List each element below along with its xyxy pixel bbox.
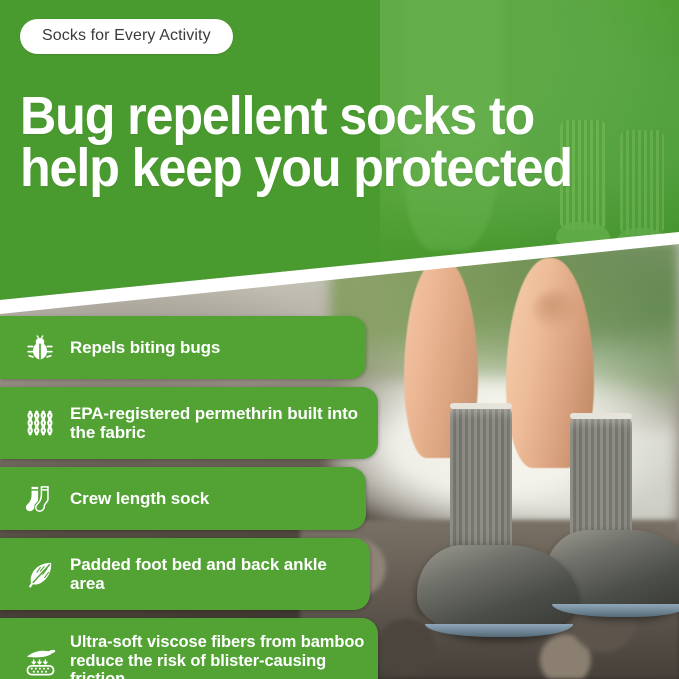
feather-icon [16, 551, 64, 597]
product-feature-banner: Socks for Every Activity Bug repellent s… [0, 0, 679, 679]
photo-sock-cuff-right [570, 413, 632, 419]
fabric-mesh-icon [16, 400, 64, 446]
feature-row-padded-footbed: Padded foot bed and back ankle area [0, 538, 370, 610]
feature-label: EPA-registered permethrin built into the… [64, 404, 368, 442]
photo-sock-cuff-left [450, 403, 512, 409]
feature-label: Crew length sock [64, 489, 209, 508]
crew-socks-icon [16, 476, 64, 522]
bug-icon [16, 325, 64, 371]
feature-row-bamboo-viscose: Ultra-soft viscose fibers from bamboo re… [0, 618, 378, 679]
feature-row-repels-bugs: Repels biting bugs [0, 316, 366, 379]
feature-row-crew-length: Crew length sock [0, 467, 366, 530]
feature-label: Ultra-soft viscose fibers from bamboo re… [64, 633, 368, 679]
headline: Bug repellent socks to help keep you pro… [20, 91, 578, 195]
cushion-foot-icon [16, 638, 64, 679]
feature-label: Padded foot bed and back ankle area [64, 555, 360, 593]
photo-sock-left [450, 405, 512, 560]
photo-knee [533, 290, 581, 330]
feature-label: Repels biting bugs [64, 338, 220, 357]
category-badge: Socks for Every Activity [20, 19, 233, 54]
feature-row-permethrin-fabric: EPA-registered permethrin built into the… [0, 387, 378, 459]
feature-list: Repels biting bugs EPA-registered permet… [0, 316, 360, 679]
